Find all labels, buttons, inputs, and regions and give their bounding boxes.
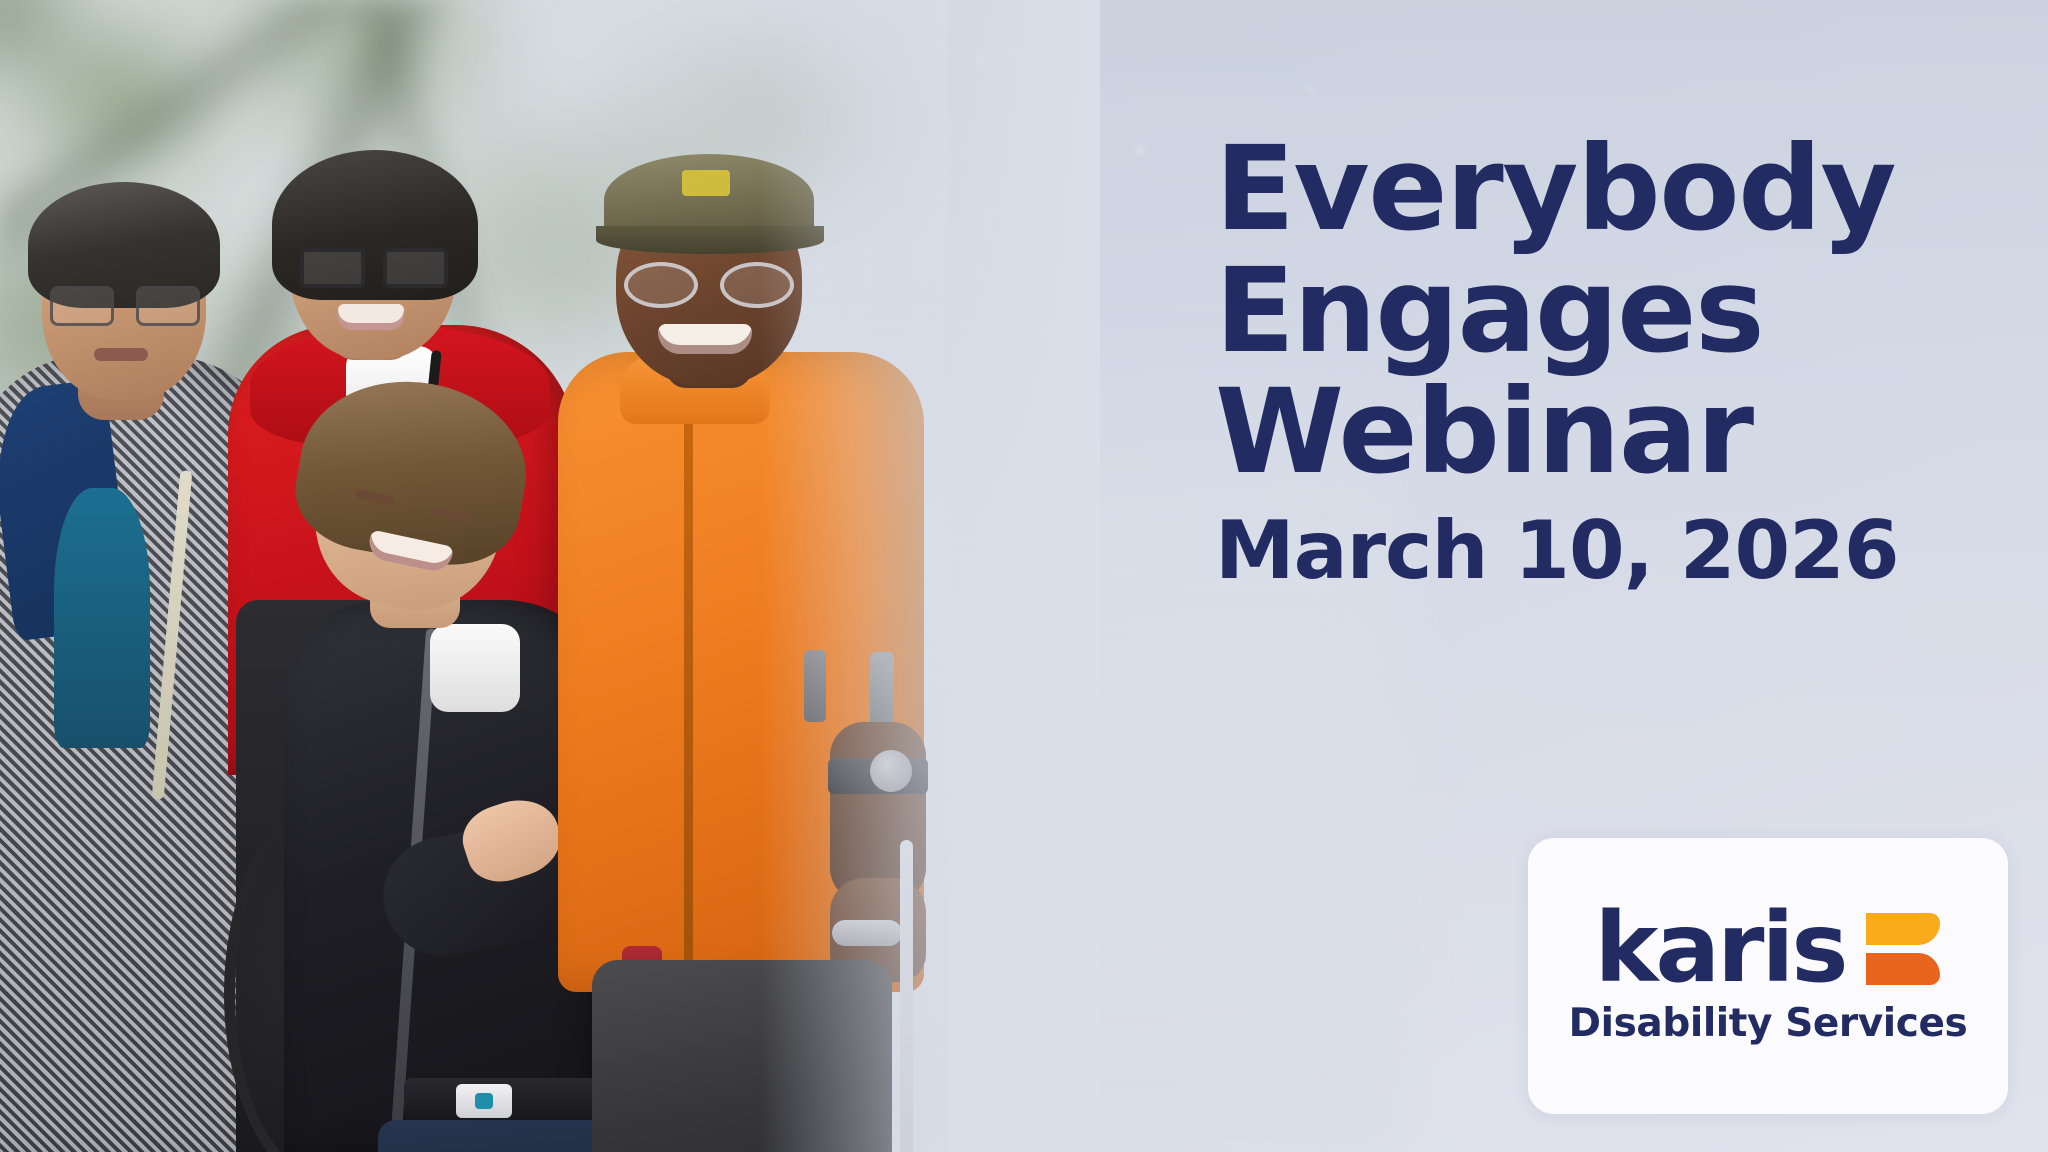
group-photo: [0, 0, 960, 1152]
page-title: Everybody Engages Webinar: [1215, 128, 2005, 493]
eyeglasses-icon: [624, 262, 794, 300]
white-shirt: [430, 624, 520, 712]
event-date: March 10, 2026: [1215, 509, 2005, 593]
jacket-zipper: [684, 380, 693, 980]
title-block: Everybody Engages Webinar March 10, 2026: [1215, 128, 2005, 593]
webinar-promo-graphic: Everybody Engages Webinar March 10, 2026…: [0, 0, 2048, 1152]
smile: [658, 324, 752, 354]
karis-tagline: Disability Services: [1569, 1001, 1968, 1046]
crutch-grip: [832, 920, 902, 946]
karis-wordmark: karis: [1594, 906, 1845, 990]
crutch-cuff-strap-left: [804, 650, 826, 722]
cap-logo: [682, 170, 730, 196]
smile: [338, 304, 404, 330]
cap-brim: [596, 226, 824, 254]
title-line-1: Everybody: [1215, 128, 2005, 250]
mouth: [94, 348, 148, 361]
karis-logomark-icon: [1864, 911, 1942, 987]
eyeglasses-icon: [50, 286, 200, 320]
title-line-2: Engages: [1215, 250, 2005, 372]
forearm-crutch: [900, 840, 913, 1152]
teal-shirt: [54, 488, 150, 748]
wristwatch: [828, 758, 928, 794]
crutch-cuff-strap-right: [870, 652, 894, 730]
logo-lockup: karis: [1594, 906, 1941, 990]
jeans: [592, 960, 892, 1152]
person-orange-jacket: [512, 140, 932, 1152]
logo-card: karis Disability Services: [1528, 838, 2008, 1114]
device-badge: [456, 1084, 512, 1118]
eyeglasses-icon: [300, 248, 448, 280]
title-line-3: Webinar: [1215, 371, 2005, 493]
